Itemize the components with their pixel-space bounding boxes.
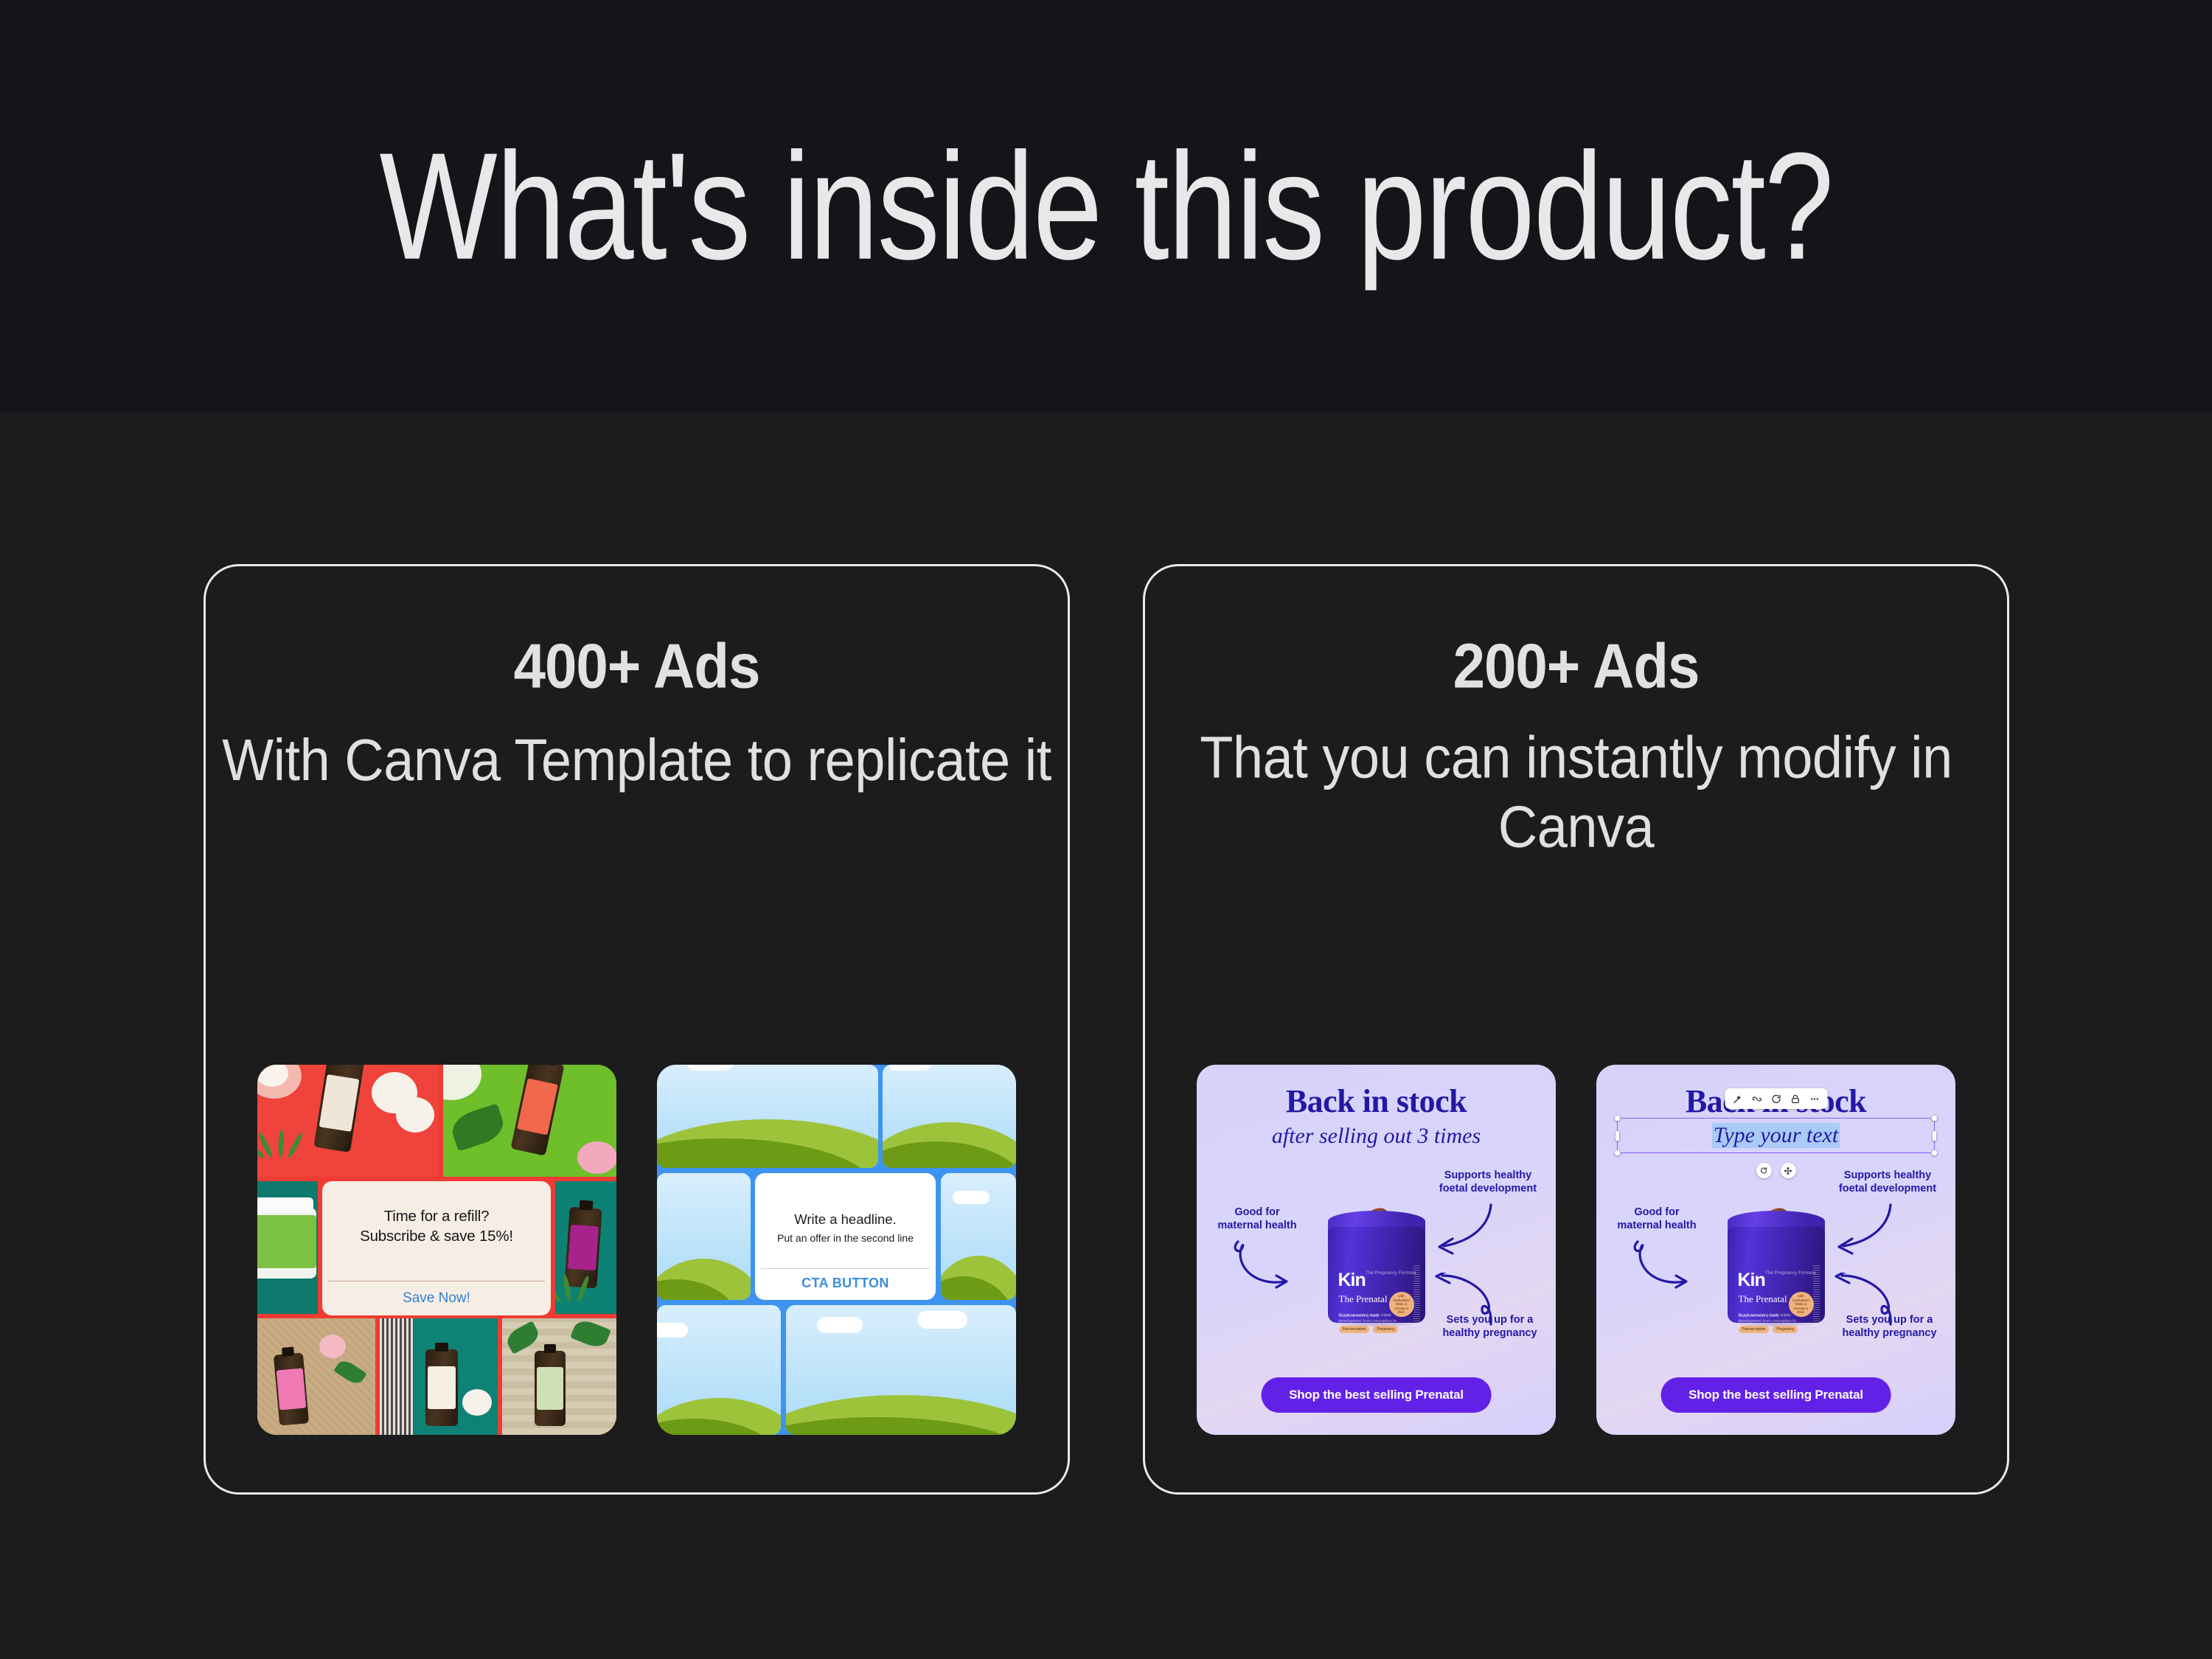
kin-ad-subtitle: after selling out 3 times — [1197, 1124, 1556, 1149]
feature-card-400-ads: 400+ Ads With Canva Template to replicat… — [204, 564, 1070, 1495]
card-count-label: 200+ Ads — [1453, 629, 1700, 703]
collage-tile-bottom-center — [380, 1318, 498, 1435]
thumbnail-kin-prenatal-ad[interactable]: Back in stock after selling out 3 times … — [1197, 1065, 1556, 1435]
ad-cta-link[interactable]: Save Now! — [322, 1290, 551, 1307]
kin-product-name: The Prenatal — [1339, 1294, 1388, 1304]
slide-root: What's inside this product? 400+ Ads Wit… — [0, 0, 2212, 1659]
canva-transform-handles[interactable] — [1756, 1163, 1796, 1178]
kin-brand-label: Kin — [1738, 1270, 1765, 1291]
kin-note-left: Good for maternal health — [1613, 1206, 1701, 1233]
card-subtitle-label: That you can instantly modify in Canva — [1145, 723, 2007, 862]
jar-body: Kin The Pregnancy Formula The Prenatal S… — [1728, 1227, 1825, 1323]
curved-arrow-left-icon — [1627, 1239, 1694, 1298]
kin-ad-title: Back in stock — [1197, 1082, 1556, 1120]
wireframe-headline: Write a headline. — [794, 1211, 897, 1228]
jar-shadow — [1732, 1318, 1820, 1327]
jar-shadow — [1332, 1318, 1421, 1327]
card-count-label: 400+ Ads — [514, 629, 760, 703]
wireframe-tile-bottom-right — [786, 1305, 1016, 1435]
thumbnail-row: Back in stock after selling out 3 times … — [1145, 1065, 2007, 1435]
kin-ad-canvas: Back in stock after selling out 3 times … — [1197, 1065, 1556, 1435]
kin-note-top-right: Supports healthy foetal development — [1429, 1169, 1547, 1196]
resize-handle-middle-left[interactable] — [1615, 1130, 1620, 1141]
wireframe-divider — [761, 1268, 930, 1269]
wireframe-tile-top-left — [657, 1065, 878, 1168]
thumbnail-kin-prenatal-ad-editing[interactable]: Back in stock — [1596, 1065, 1955, 1435]
kin-cta-button[interactable]: Shop the best selling Prenatal — [1261, 1377, 1492, 1413]
resize-handle-top-right[interactable] — [1931, 1115, 1938, 1121]
canva-floating-toolbar[interactable] — [1725, 1088, 1827, 1109]
animate-icon[interactable] — [1751, 1093, 1762, 1105]
kin-ad-canvas-editing: Back in stock — [1596, 1065, 1955, 1435]
ad-headline-line1: Time for a refill? — [384, 1206, 490, 1226]
wireframe-frame: Write a headline. Put an offer in the se… — [657, 1065, 1016, 1435]
wireframe-tile-mid-right — [941, 1173, 1016, 1300]
jar-tagline: The Pregnancy Formula — [1765, 1271, 1816, 1276]
collage-tile-left — [257, 1181, 318, 1314]
resize-handle-bottom-right[interactable] — [1931, 1150, 1938, 1156]
ad-divider — [328, 1281, 545, 1281]
kin-product-name: The Prenatal — [1739, 1294, 1787, 1304]
lock-icon[interactable] — [1790, 1093, 1801, 1105]
wireframe-tile-mid-left — [657, 1173, 751, 1300]
selected-text-value: Type your text — [1712, 1123, 1840, 1148]
jar-tagline: The Pregnancy Formula — [1366, 1271, 1416, 1276]
cards-row: 400+ Ads With Canva Template to replicat… — [0, 413, 2212, 1659]
curved-arrow-top-right-icon — [1827, 1203, 1898, 1262]
curved-arrow-bottom-right-icon — [1430, 1273, 1501, 1336]
header-band: What's inside this product? — [0, 0, 2212, 413]
kin-product-foot: 60 soft capsules 1 month supply — [1339, 1313, 1391, 1318]
kin-product-badge: with methylated folate & Omega-3 DHA — [1789, 1292, 1814, 1317]
thumbnail-row: Time for a refill? Subscribe & save 15%!… — [206, 1065, 1068, 1435]
kin-product-jar: Kin The Pregnancy Formula The Prenatal S… — [1328, 1211, 1425, 1323]
wireframe-cta-button[interactable]: CTA BUTTON — [755, 1276, 936, 1291]
kin-product-foot: 60 soft capsules 1 month supply — [1739, 1313, 1791, 1318]
wireframe-subline: Put an offer in the second line — [777, 1232, 914, 1244]
curved-arrow-top-right-icon — [1427, 1203, 1498, 1262]
kin-cta-button[interactable]: Shop the best selling Prenatal — [1660, 1377, 1891, 1413]
kin-product-jar: Kin The Pregnancy Formula The Prenatal S… — [1728, 1211, 1825, 1323]
rotate-icon[interactable] — [1756, 1163, 1772, 1178]
collage-tile-top-left — [257, 1065, 439, 1177]
card-subtitle-label: With Canva Template to replicate it — [207, 726, 1066, 795]
move-icon[interactable] — [1781, 1163, 1796, 1178]
magic-wand-icon[interactable] — [1732, 1093, 1743, 1105]
collage-frame: Time for a refill? Subscribe & save 15%!… — [257, 1065, 616, 1435]
kin-note-top-right: Supports healthy foetal development — [1829, 1169, 1947, 1196]
thumbnail-canva-wireframe-template[interactable]: Write a headline. Put an offer in the se… — [657, 1065, 1016, 1435]
resize-handle-middle-right[interactable] — [1932, 1130, 1937, 1141]
thumbnail-supplement-collage-ad[interactable]: Time for a refill? Subscribe & save 15%!… — [257, 1065, 616, 1435]
page-title: What's inside this product? — [380, 131, 1833, 283]
curved-arrow-left-icon — [1228, 1239, 1294, 1298]
kin-product-badge: with methylated folate & Omega-3 DHA — [1389, 1292, 1414, 1317]
collage-tile-bottom-left — [257, 1318, 375, 1435]
kin-brand-label: Kin — [1338, 1270, 1366, 1291]
ad-headline-line2: Subscribe & save 15%! — [360, 1226, 513, 1246]
collage-tile-top-right — [443, 1065, 616, 1177]
curved-arrow-bottom-right-icon — [1830, 1273, 1901, 1336]
ad-offer-card: Time for a refill? Subscribe & save 15%!… — [322, 1181, 551, 1315]
refresh-icon[interactable] — [1770, 1093, 1781, 1105]
wireframe-tile-bottom-left — [657, 1305, 781, 1435]
selected-text[interactable]: Type your text — [1618, 1119, 1934, 1152]
resize-handle-top-left[interactable] — [1614, 1115, 1621, 1121]
jar-body: Kin The Pregnancy Formula The Prenatal S… — [1328, 1227, 1425, 1323]
more-options-icon[interactable] — [1809, 1093, 1820, 1105]
collage-tile-bottom-right — [502, 1318, 616, 1435]
collage-tile-right — [555, 1181, 616, 1314]
feature-card-200-ads: 200+ Ads That you can instantly modify i… — [1143, 564, 2009, 1495]
resize-handle-bottom-left[interactable] — [1614, 1150, 1621, 1156]
canva-text-selection-box[interactable]: Type your text — [1617, 1118, 1935, 1153]
wireframe-offer-card: Write a headline. Put an offer in the se… — [755, 1173, 936, 1300]
wireframe-tile-top-right — [883, 1065, 1016, 1168]
kin-note-left: Good for maternal health — [1213, 1206, 1301, 1233]
